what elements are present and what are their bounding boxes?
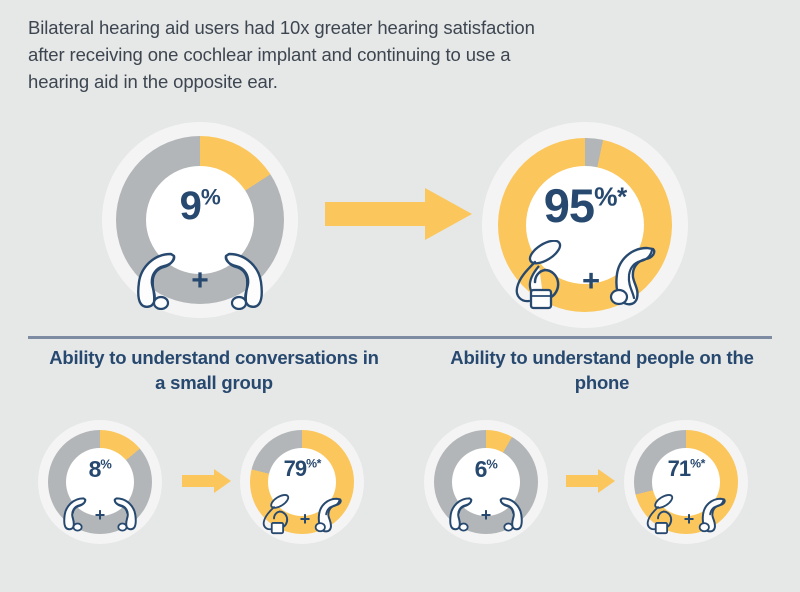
donut-value-label: 79%* [240,456,364,482]
cochlear-implant-plus-hearing-aid-icon: + [482,240,688,312]
plus-sign: + [300,510,311,528]
two-hearing-aids-icon: + [38,494,162,532]
percent-sign: % [100,456,111,471]
hearing-aid-right-icon [211,248,269,310]
donut-value-label: 6% [424,456,548,483]
hearing-satisfaction-section: 9% + [0,0,800,330]
percent-sign: % [201,185,220,210]
footnote-star: * [701,457,705,471]
donut-satisfaction-before: 9% + [102,122,298,318]
donut-value-label: 95%* [482,178,688,233]
plus-sign: + [684,510,695,528]
section-title-small-group: Ability to understand conversations in a… [44,345,384,395]
footnote-star: * [317,457,321,471]
hearing-aid-icon [311,494,347,536]
donut-small-group-after: 79%* + [240,420,364,544]
donut-value-number: 9 [180,184,201,228]
cochlear-implant-icon [505,240,579,312]
section-title-phone: Ability to understand people on the phon… [432,345,772,395]
hearing-aid-icon [695,494,731,536]
percent-sign: % [690,457,700,471]
section-divider [28,336,772,339]
cochlear-implant-icon [641,494,683,536]
plus-sign: + [582,265,600,296]
arrow-right-icon [182,468,232,494]
donut-value-label: 8% [38,456,162,483]
arrow-right-icon [325,186,473,242]
donut-value-number: 79 [284,456,306,481]
donut-value-number: 95 [544,179,594,232]
donut-value-number: 8 [89,456,101,482]
donut-value-label: 9% [102,184,298,229]
hearing-aid-right-icon [492,494,526,532]
percent-sign: % [594,181,617,211]
plus-sign: + [191,266,209,296]
cochlear-implant-plus-hearing-aid-icon: + [240,494,364,536]
donut-small-phone-after: 71%* + [624,420,748,544]
donut-value-number: 6 [475,456,487,482]
plus-sign: + [481,506,492,524]
two-hearing-aids-icon: + [424,494,548,532]
hearing-aid-right-icon [106,494,140,532]
arrow-right-icon [566,468,616,494]
donut-value-label: 71%* [624,456,748,482]
hearing-aid-icon [603,240,665,312]
plus-sign: + [95,506,106,524]
hearing-aid-left-icon [60,494,94,532]
donut-satisfaction-after: 95%* + [482,122,688,328]
cochlear-implant-plus-hearing-aid-icon: + [624,494,748,536]
cochlear-implant-icon [257,494,299,536]
percent-sign: % [486,456,497,471]
hearing-aid-left-icon [131,248,189,310]
footnote-star: * [617,181,626,211]
donut-small-group-before: 8% + [38,420,162,544]
percent-sign: % [306,457,316,471]
hearing-aid-left-icon [446,494,480,532]
infographic-root: Bilateral hearing aid users had 10x grea… [0,0,800,592]
donut-small-phone-before: 6% + [424,420,548,544]
donut-value-number: 71 [668,456,690,481]
two-hearing-aids-icon: + [102,248,298,310]
